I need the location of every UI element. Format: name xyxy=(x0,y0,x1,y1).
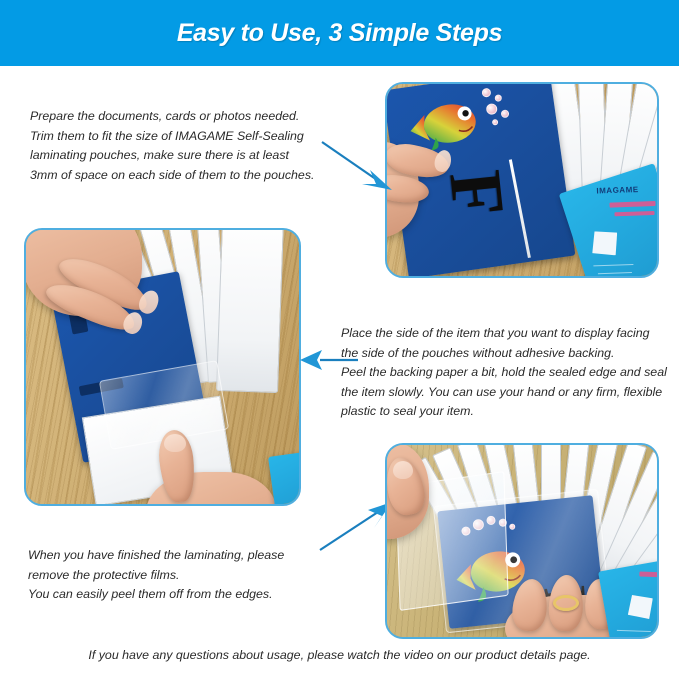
footer-note: If you have any questions about usage, p… xyxy=(0,648,679,662)
ring xyxy=(553,595,579,611)
hand-peeling-film xyxy=(385,449,455,559)
product-box xyxy=(598,560,659,639)
step-2-instructions: Place the side of the item that you want… xyxy=(341,324,671,422)
page-title: Easy to Use, 3 Simple Steps xyxy=(177,19,502,48)
header-banner: Easy to Use, 3 Simple Steps xyxy=(0,0,679,66)
product-box-edge xyxy=(268,452,301,506)
step-1-instructions: Prepare the documents, cards or photos n… xyxy=(30,107,352,185)
infographic-page: Easy to Use, 3 Simple Steps Prepare the … xyxy=(0,0,679,679)
step-3-instructions: When you have finished the laminating, p… xyxy=(28,546,358,605)
photo-step-3: F xyxy=(385,443,659,639)
arrow-step-1 xyxy=(320,140,398,192)
thumb-holding-pouch xyxy=(136,426,276,506)
photo-step-1: F IMAGAME xyxy=(385,82,659,278)
hand-pressing-pouch xyxy=(32,228,212,364)
photo-step-2 xyxy=(24,228,301,506)
box-brand-label: IMAGAME xyxy=(596,185,638,195)
